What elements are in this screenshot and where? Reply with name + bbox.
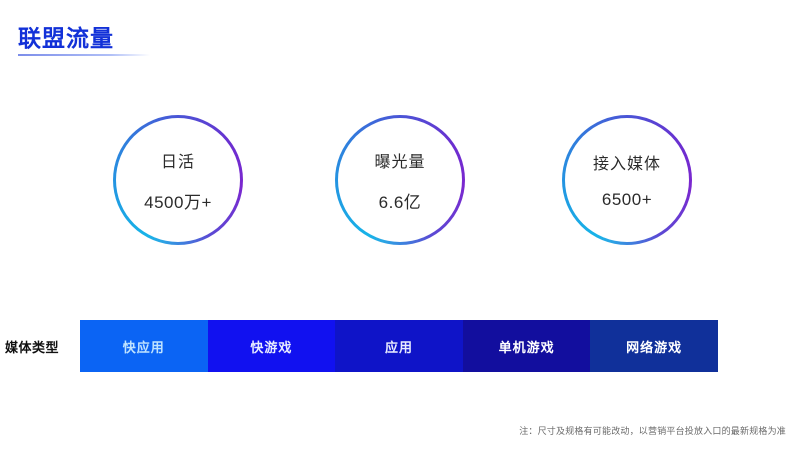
stat-label: 曝光量 bbox=[374, 148, 425, 172]
media-type-segment-offline-game[interactable]: 单机游戏 bbox=[463, 320, 591, 372]
media-type-row: 媒体类型 快应用 快游戏 应用 单机游戏 网络游戏 bbox=[0, 320, 800, 372]
stat-value: 6500+ bbox=[602, 190, 652, 210]
page-title: 联盟流量 bbox=[18, 26, 150, 51]
stat-value: 4500万+ bbox=[144, 188, 212, 213]
segment-label: 快游戏 bbox=[250, 337, 292, 356]
footnote: 注：尺寸及规格有可能改动，以营销平台投放入口的最新规格为准 bbox=[519, 424, 786, 437]
stat-label: 日活 bbox=[161, 148, 195, 172]
segment-label: 网络游戏 bbox=[626, 337, 682, 356]
stat-value: 6.6亿 bbox=[379, 188, 422, 213]
stat-circle-impressions: 曝光量 6.6亿 bbox=[338, 118, 462, 242]
segment-label: 单机游戏 bbox=[499, 337, 555, 356]
segment-label: 应用 bbox=[385, 337, 413, 356]
stat-label: 接入媒体 bbox=[593, 150, 661, 174]
segment-label: 快应用 bbox=[123, 337, 165, 356]
media-type-segment-quick-app[interactable]: 快应用 bbox=[80, 320, 208, 372]
stat-circle-daily-active: 日活 4500万+ bbox=[116, 118, 240, 242]
media-type-segment-online-game[interactable]: 网络游戏 bbox=[590, 320, 718, 372]
stat-circle-connected-media: 接入媒体 6500+ bbox=[565, 118, 689, 242]
media-type-segment-app[interactable]: 应用 bbox=[335, 320, 463, 372]
slide-root: 联盟流量 日活 4500万+ 曝光量 6.6亿 接入媒体 6500+ 媒体类型 … bbox=[0, 0, 800, 450]
page-title-block: 联盟流量 bbox=[18, 26, 150, 56]
title-underline bbox=[18, 54, 150, 56]
stat-circle-group: 日活 4500万+ 曝光量 6.6亿 接入媒体 6500+ bbox=[0, 118, 800, 246]
media-type-segment-quick-game[interactable]: 快游戏 bbox=[208, 320, 336, 372]
media-type-row-label: 媒体类型 bbox=[5, 320, 77, 372]
media-type-bar: 快应用 快游戏 应用 单机游戏 网络游戏 bbox=[80, 320, 718, 372]
